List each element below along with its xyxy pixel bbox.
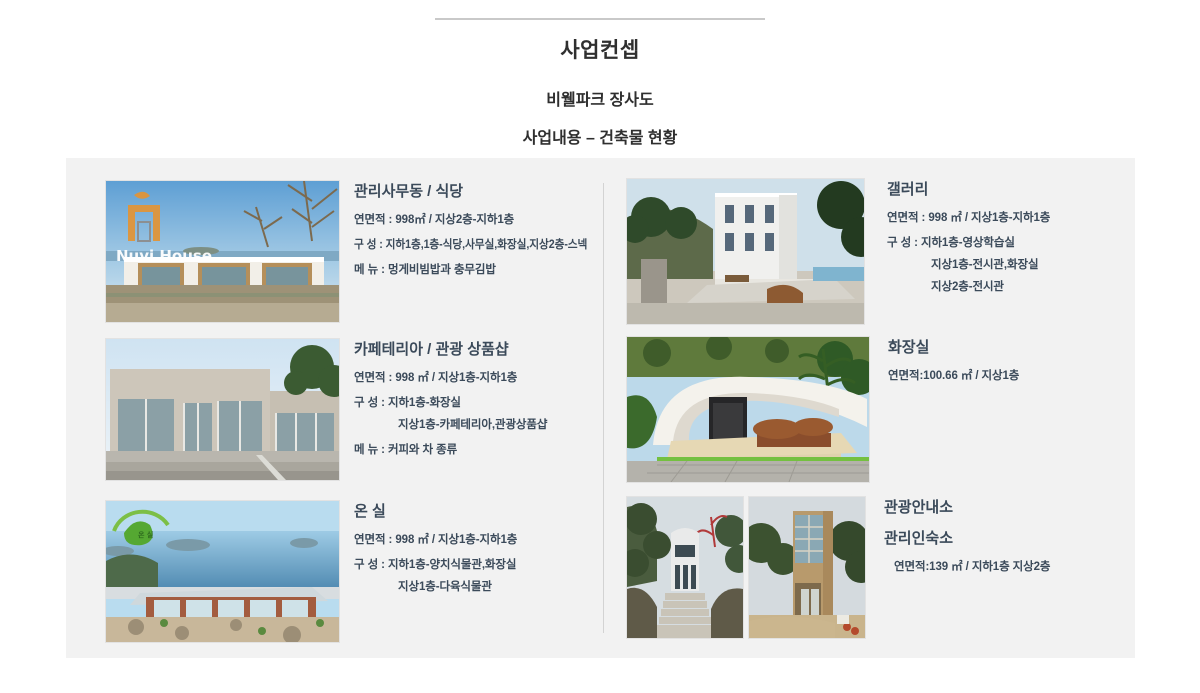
composition-line: 구 성 : 지하1층-화장실: [354, 394, 547, 410]
composition-line-3: 지상2층-전시관: [887, 278, 1050, 294]
building-title: 카페테리아 / 관광 상품샵: [354, 338, 547, 359]
building-entry-restroom: 화장실 연면적:100.66 ㎡ / 지상1층: [626, 336, 1019, 483]
building-title: 온 실: [354, 500, 517, 521]
tourist-info-lodging-info: 관광안내소 관리인숙소 연면적:139 ㎡ / 지하1층 지상2층: [866, 496, 1050, 639]
gallery-info: 갤러리 연면적 : 998 ㎡ / 지상1층-지하1층 구 성 : 지하1층-영…: [865, 178, 1050, 325]
building-entry-tourist-info-lodging: 관광안내소 관리인숙소 연면적:139 ㎡ / 지하1층 지상2층: [626, 496, 1050, 639]
building-entry-gallery: 갤러리 연면적 : 998 ㎡ / 지상1층-지하1층 구 성 : 지하1층-영…: [626, 178, 1050, 325]
restroom-info: 화장실 연면적:100.66 ㎡ / 지상1층: [870, 336, 1019, 483]
building-title-2: 관리인숙소: [884, 527, 1050, 548]
header-divider-rule: [435, 18, 765, 20]
building-entry-greenhouse: 온 실 온 실 연면적 : 998 ㎡ / 지상1층-지하1층 구 성 : 지하…: [105, 500, 517, 643]
caretaker-lodging-photo: [748, 496, 866, 639]
composition-line: 구 성 : 지하1층-양치식물관,화장실: [354, 556, 517, 572]
floor-area-line: 연면적 : 998㎡ / 지상2층-지하1층: [354, 211, 605, 227]
restroom-photo: [626, 336, 870, 483]
floor-area-line: 연면적 : 998 ㎡ / 지상1층-지하1층: [887, 209, 1050, 225]
composition-line-2: 지상1층-전시관,화장실: [887, 256, 1050, 272]
building-title: 화장실: [888, 336, 1019, 357]
floor-area-line: 연면적 : 998 ㎡ / 지상1층-지하1층: [354, 531, 517, 547]
menu-line: 메 뉴 : 커피와 차 종류: [354, 441, 547, 457]
building-title: 갤러리: [887, 178, 1050, 199]
building-entry-cafeteria: 카페테리아 / 관광 상품샵 연면적 : 998 ㎡ / 지상1층-지하1층 구…: [105, 338, 547, 481]
slide-header: 사업컨셉 비웰파크 장사도 사업내용 – 건축물 현황: [0, 18, 1200, 148]
composition-line: 구 성 : 지하1층,1층-식당,사무실,화장실,지상2층-스넥: [354, 236, 587, 252]
building-title: 관광안내소: [884, 496, 1050, 517]
composition-line: 구 성 : 지하1층-영상학습실: [887, 234, 1050, 250]
composition-line-2: 지상1층-카페테리아,관광상품샵: [354, 416, 547, 432]
management-office-info: 관리사무동 / 식당 연면적 : 998㎡ / 지상2층-지하1층 구 성 : …: [340, 180, 605, 323]
cafeteria-souvenir-shop-photo: [105, 338, 340, 481]
management-office-restaurant-photo: Nuvi House: [105, 180, 340, 323]
floor-area-line: 연면적:100.66 ㎡ / 지상1층: [888, 367, 1019, 383]
gallery-photo: [626, 178, 865, 325]
photo-pair: [626, 496, 866, 639]
svg-text:Nuvi House: Nuvi House: [116, 247, 212, 265]
greenhouse-info: 온 실 연면적 : 998 ㎡ / 지상1층-지하1층 구 성 : 지하1층-양…: [340, 500, 517, 643]
menu-line: 메 뉴 : 멍게비빔밥과 충무김밥: [354, 261, 605, 277]
floor-area-line: 연면적 : 998 ㎡ / 지상1층-지하1층: [354, 369, 547, 385]
page-title: 사업컨셉: [0, 34, 1200, 64]
content-panel: Nuvi House 관리사무동 / 식당 연면적 : 998㎡ / 지상2층-…: [66, 158, 1135, 658]
building-title: 관리사무동 / 식당: [354, 180, 605, 201]
tourist-information-center-photo: [626, 496, 744, 639]
floor-area-line: 연면적:139 ㎡ / 지하1층 지상2층: [884, 558, 1050, 574]
composition-line-2: 지상1층-다육식물관: [354, 578, 517, 594]
section-subtitle: 사업내용 – 건축물 현황: [0, 124, 1200, 148]
greenhouse-photo: 온 실: [105, 500, 340, 643]
building-entry-management-office: Nuvi House 관리사무동 / 식당 연면적 : 998㎡ / 지상2층-…: [105, 180, 605, 323]
project-name: 비웰파크 장사도: [0, 86, 1200, 110]
svg-text:온 실: 온 실: [138, 530, 153, 539]
cafeteria-info: 카페테리아 / 관광 상품샵 연면적 : 998 ㎡ / 지상1층-지하1층 구…: [340, 338, 547, 481]
